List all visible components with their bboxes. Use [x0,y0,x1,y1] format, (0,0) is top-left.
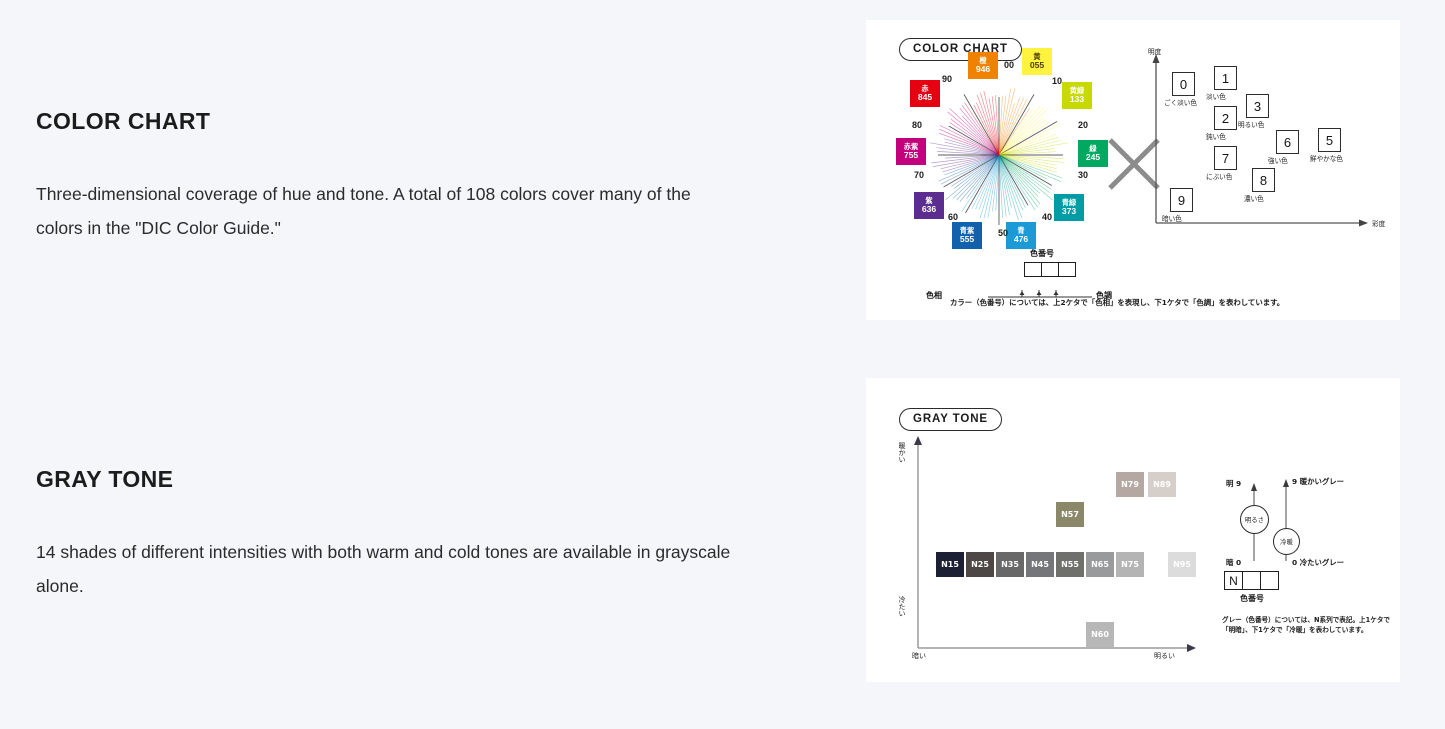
code-cell-3 [1058,262,1076,277]
hue-chip-946: 橙946 [968,52,998,79]
gray-code-cell-2 [1242,571,1261,590]
legend-cool-bottom-label: 0 冷たいグレー [1292,557,1344,568]
hue-chip-code: 946 [976,65,990,74]
gray-axis-bright-label: 明るい [1154,652,1175,660]
hue-chip-636: 紫636 [914,192,944,219]
gray-chip-N55: N55 [1056,552,1084,577]
gray-chip-N79: N79 [1116,472,1144,497]
tone-box-5: 5 [1318,128,1341,152]
hue-chip-code: 845 [918,93,932,102]
page-title-gray-tone: GRAY TONE [36,466,736,493]
gray-axis-cool-label: 冷たい [898,596,906,617]
code-cell-2 [1041,262,1059,277]
tone-box-6: 6 [1276,130,1299,154]
tone-box-7: 7 [1214,146,1237,170]
gray-chip-N89: N89 [1148,472,1176,497]
gray-code-cell-n: N [1224,571,1243,590]
gray-chip-N25: N25 [966,552,994,577]
gray-chart-axes [886,436,1206,661]
gray-code-cell-3 [1260,571,1279,590]
hue-chip-code: 373 [1062,207,1076,216]
gray-tone-chart: 暖かい 冷たい 暗い 明るい N15N25N35N45N55N65N75N95N… [886,436,1206,661]
gray-tone-description: 14 shades of different intensities with … [36,535,736,603]
tone-box-9: 9 [1170,188,1193,212]
wheel-number-90: 90 [942,74,952,84]
hue-chip-133: 黄緑133 [1062,82,1092,109]
hue-chip-845: 赤845 [910,80,940,107]
tone-box-0: 0 [1172,72,1195,96]
color-code-cells [1024,262,1076,277]
gray-code-cells: N [1224,571,1279,590]
gray-chip-N35: N35 [996,552,1024,577]
gray-axis-dark-label: 暗い [912,652,926,660]
tone-label-5: 鮮やかな色 [1310,153,1343,163]
gray-chip-N75: N75 [1116,552,1144,577]
wheel-number-70: 70 [914,170,924,180]
wheel-number-60: 60 [948,212,958,222]
gray-chip-N95: N95 [1168,552,1196,577]
color-code-diagram: 色番号 色相 色調 [1016,250,1276,295]
legend-bright-top-label: 明 9 [1226,478,1241,489]
hue-chip-555: 青紫555 [952,222,982,249]
hue-chip-476: 青476 [1006,222,1036,249]
tone-box-1: 1 [1214,66,1237,90]
color-code-hue-label: 色相 [926,290,942,301]
legend-warm-top-label: 9 暖かいグレー [1292,476,1344,487]
hue-chip-code: 133 [1070,95,1084,104]
color-chart-section: COLOR CHART Three-dimensional coverage o… [36,108,736,245]
tone-label-6: 強い色 [1268,155,1288,165]
gray-tone-pill-label: GRAY TONE [899,408,1002,431]
hue-chip-code: 476 [1014,235,1028,244]
wheel-number-50: 50 [998,228,1008,238]
gray-chip-N15: N15 [936,552,964,577]
tone-label-7: にぶい色 [1206,171,1232,181]
tone-box-3: 3 [1246,94,1269,118]
hue-chip-code: 245 [1086,153,1100,162]
color-wheel-diagram: 橙946黄055黄緑133緑245青緑373青476青紫555紫636赤紫755… [882,46,1112,261]
hue-chip-755: 赤紫755 [896,138,926,165]
color-chart-caption: カラー（色番号）については、上2ケタで「色相」を表現し、下1ケタで「色調」を表わ… [950,297,1284,308]
legend-warmcool-circle: 冷暖 [1273,528,1300,555]
code-cell-1 [1024,262,1042,277]
gray-tone-section: GRAY TONE 14 shades of different intensi… [36,466,736,603]
color-code-title: 色番号 [1030,248,1054,259]
tone-label-9: 暗い色 [1162,213,1182,223]
tone-label-0: ごく淡い色 [1164,97,1197,107]
wheel-number-00: 00 [1004,60,1014,70]
gray-chip-N60: N60 [1086,622,1114,647]
gray-chip-N65: N65 [1086,552,1114,577]
hue-chip-055: 黄055 [1022,48,1052,75]
page-title-color-chart: COLOR CHART [36,108,736,135]
legend-brightness-circle: 明るさ [1240,505,1269,534]
hue-chip-code: 555 [960,235,974,244]
wheel-number-30: 30 [1078,170,1088,180]
wheel-number-80: 80 [912,120,922,130]
wheel-number-10: 10 [1052,76,1062,86]
tone-label-8: 濃い色 [1244,193,1264,203]
hue-chip-373: 青緑373 [1054,194,1084,221]
tone-box-8: 8 [1252,168,1275,192]
left-text-column: COLOR CHART Three-dimensional coverage o… [36,0,816,729]
tone-label-3: 明るい色 [1238,119,1264,129]
tone-x-axis-label: 彩度 [1372,218,1385,228]
gray-tone-panel: GRAY TONE 暖かい 冷たい 暗い 明るい N15N25N35N45N55… [866,378,1400,682]
hue-chip-code: 636 [922,205,936,214]
color-chart-description: Three-dimensional coverage of hue and to… [36,177,736,245]
gray-chip-N57: N57 [1056,502,1084,527]
tone-y-axis-label: 明度 [1148,46,1161,56]
gray-code-title: 色番号 [1240,593,1264,604]
gray-axis-warm-label: 暖かい [898,442,906,463]
gray-tone-legend-note: グレー（色番号）については、N系列で表記。上1ケタで「明暗」、下1ケタで「冷暖」… [1222,615,1392,635]
tone-label-2: 鈍い色 [1206,131,1226,141]
tone-quadrant-diagram: 明度 彩度 0ごく淡い色1淡い色3明るい色2鈍い色6強い色5鮮やかな色7にぶい色… [1142,48,1392,248]
color-chart-panel: COLOR CHART 橙946黄055黄緑133緑245青緑373青476青紫… [866,20,1400,320]
hue-chip-code: 055 [1030,61,1044,70]
gray-chip-N45: N45 [1026,552,1054,577]
tone-box-2: 2 [1214,106,1237,130]
gray-tone-legend: 明 9 9 暖かいグレー 明るさ 冷暖 暗 0 0 冷たいグレー N 色番号 グ… [1218,473,1393,663]
wheel-number-20: 20 [1078,120,1088,130]
tone-label-1: 淡い色 [1206,91,1226,101]
page-root: COLOR CHART Three-dimensional coverage o… [0,0,1445,729]
color-wheel-rays [926,82,1072,228]
hue-chip-code: 755 [904,151,918,160]
wheel-number-40: 40 [1042,212,1052,222]
legend-bright-bottom-label: 暗 0 [1226,557,1241,568]
